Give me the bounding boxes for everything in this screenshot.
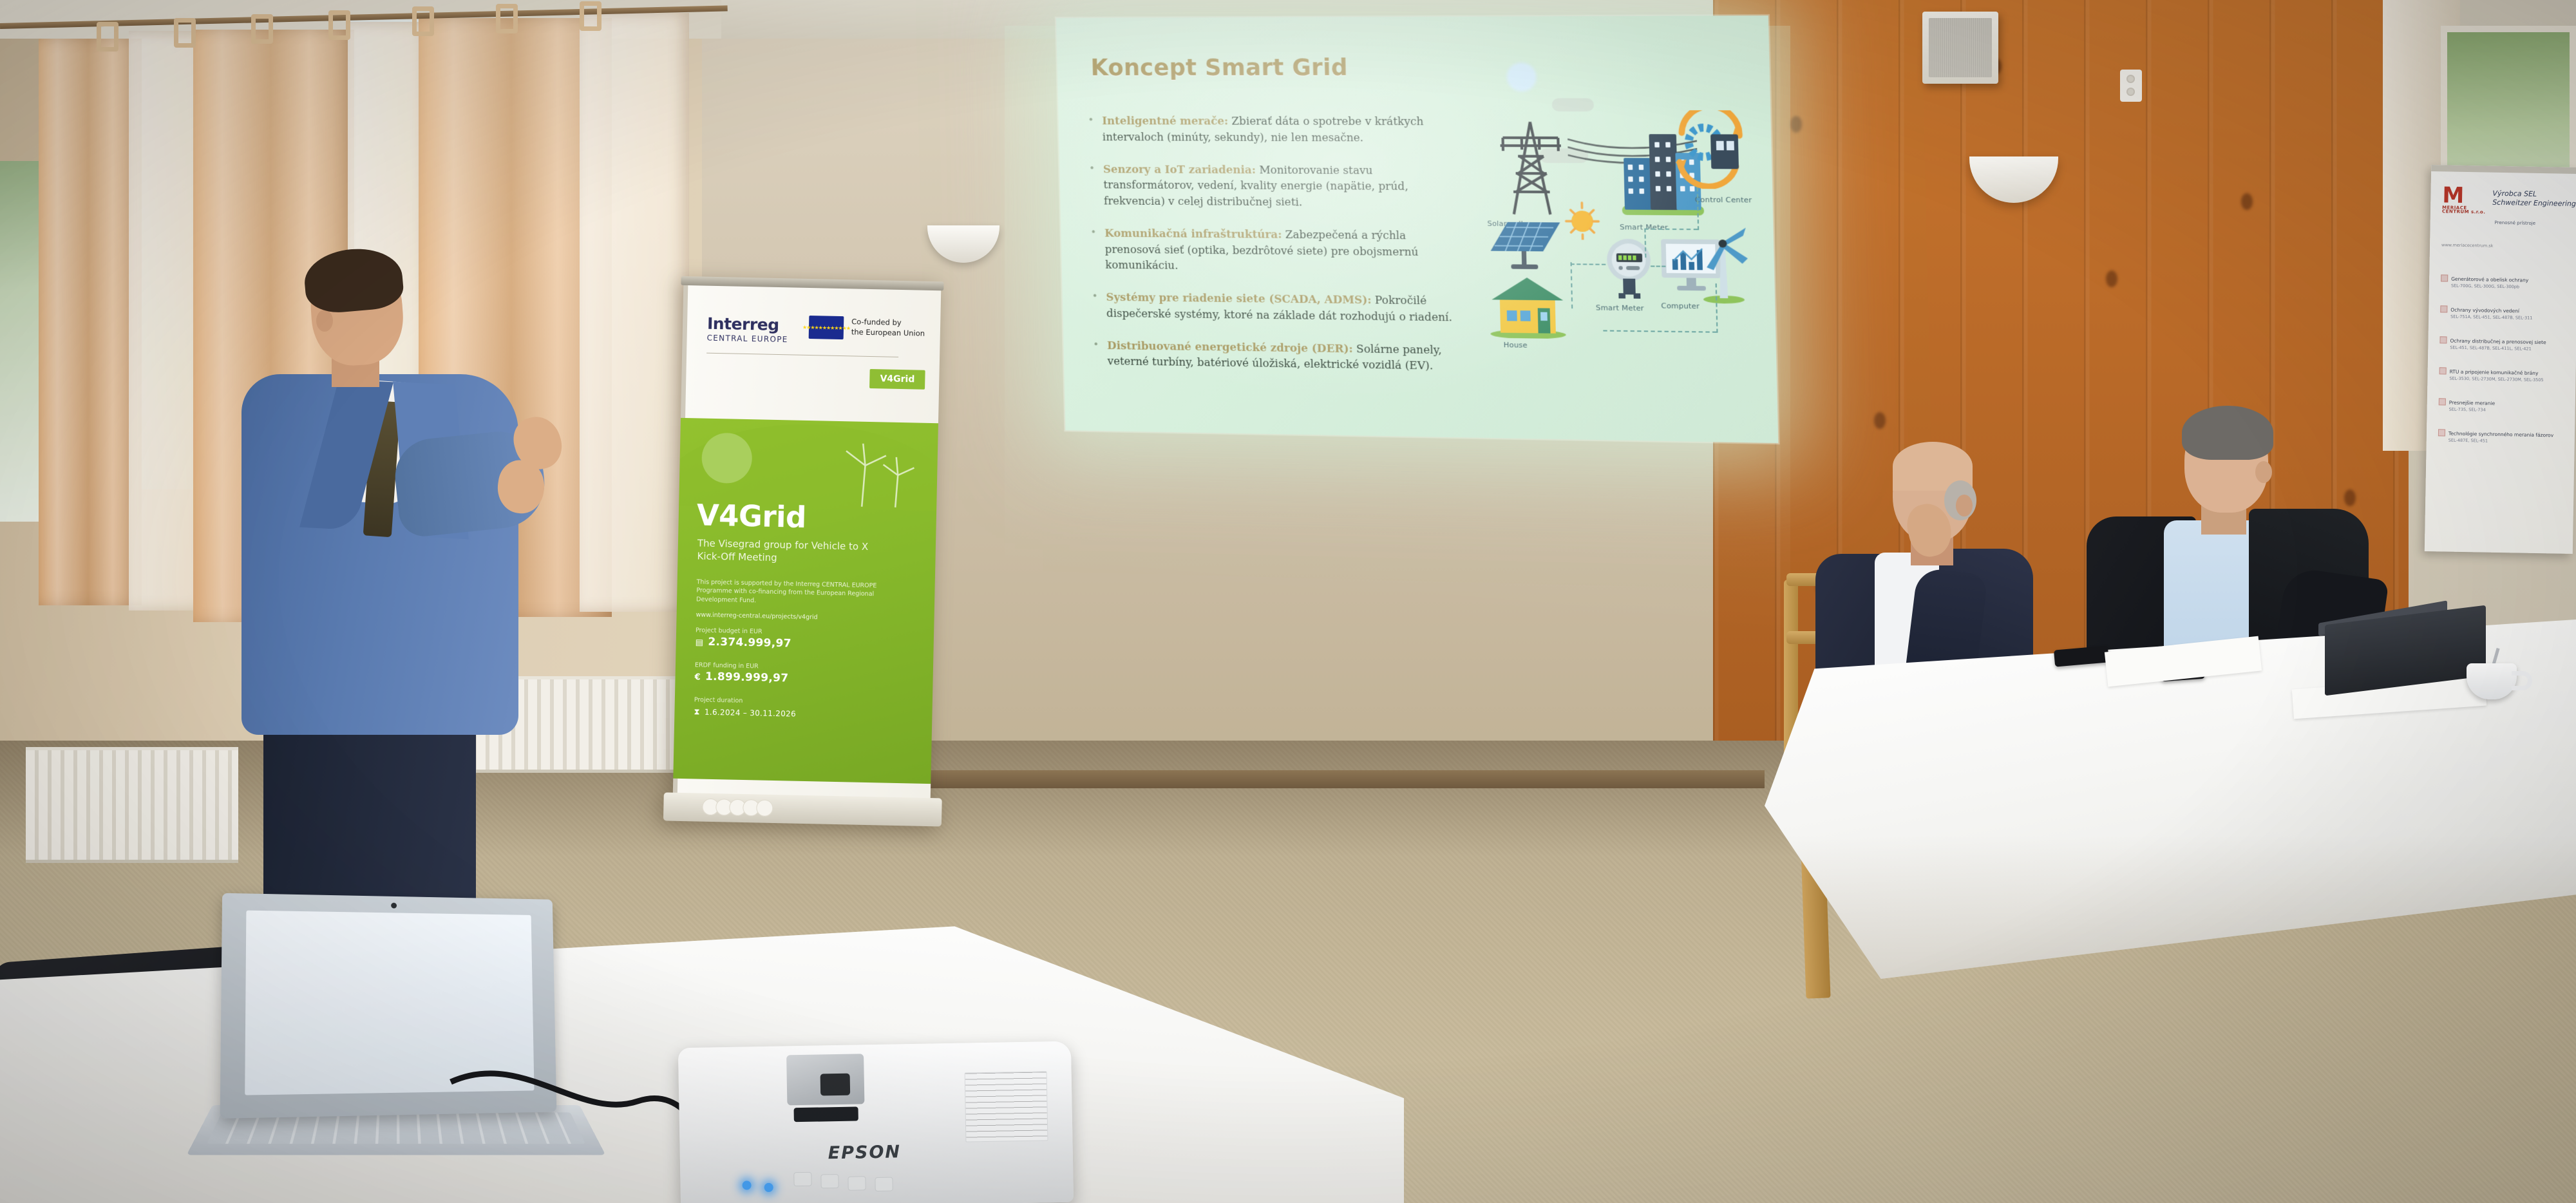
bullet-dot: • <box>1093 337 1099 370</box>
interreg-logo: Interreg CENTRAL EUROPE <box>706 314 788 345</box>
banner-fact-budget: Project budget in EUR ▤2.374.999,97 <box>696 627 792 650</box>
poster-row-label: Presnejšie meranie <box>2449 400 2495 406</box>
fact-value: 1.899.999,97 <box>705 670 789 685</box>
projector-brand: EPSON <box>828 1142 901 1163</box>
poster-row-label: Ochrany vývodových vedení <box>2450 307 2519 314</box>
rollup-banner-v4grid: Interreg CENTRAL EUROPE ★★★★★★★★★★★★ Co-… <box>673 283 942 803</box>
poster-row-label: Generátorové a obelisk ochrany <box>2451 276 2528 283</box>
pale-sun-icon <box>1506 62 1537 91</box>
projector-spec-label <box>965 1071 1048 1142</box>
banner-title: V4Grid <box>696 498 806 535</box>
poster-url: www.meriacecentrum.sk <box>2441 242 2494 248</box>
bullet-dot: • <box>1088 113 1094 146</box>
poster-logo-m: MMERIACE CENTRUM s.r.o. <box>2442 185 2486 214</box>
sheer-curtain-panel <box>580 13 689 612</box>
poster-row-codes: SEL-451, SEL-487B, SEL-411L, SEL-421 <box>2450 345 2568 353</box>
projector-vent <box>794 1106 858 1122</box>
house-icon <box>1487 272 1568 339</box>
eu-flag-icon: ★★★★★★★★★★★★ <box>809 316 844 339</box>
webcam-icon <box>391 903 397 909</box>
slide-bullet: • Distribuované energetické zdroje (DER)… <box>1093 337 1461 375</box>
poster-row: Presnejšie meranie SEL-735, SEL-734 <box>2439 398 2568 415</box>
projector-button[interactable] <box>848 1176 866 1190</box>
poster-row-codes: SEL-700G, SEL-300G, SEL-300pb <box>2451 283 2570 291</box>
bullet-dot: • <box>1092 290 1098 322</box>
banner-base-dots <box>702 799 770 817</box>
curtain-tab <box>412 6 434 36</box>
poster-row: Ochrany vývodových vedení SEL-751A, SEL-… <box>2440 305 2569 322</box>
diagram-label-computer: Computer <box>1661 301 1700 310</box>
smart-grid-diagram: Solar poller <box>1472 57 1750 370</box>
slide-bullet: • Inteligentné merače: Zbierať dáta o sp… <box>1088 113 1456 146</box>
poster-row-icon <box>2438 429 2445 436</box>
presenter-hair <box>302 245 405 316</box>
diagram-label-house: House <box>1504 341 1528 350</box>
poster-row-icon <box>2440 305 2447 312</box>
curtain-tab <box>97 22 118 52</box>
slide-bullet: • Komunikačná infraštruktúra: Zabezpečen… <box>1090 225 1459 277</box>
poster-row: RTU a pripojenie komunikačné brány SEL-3… <box>2439 367 2568 384</box>
banner-url: www.interreg-central.eu/projects/v4grid <box>696 611 818 621</box>
poster-row-codes: SEL-751A, SEL-451, SEL-487B, SEL-311 <box>2450 314 2569 322</box>
bullet-lead: Distribuované energetické zdroje (DER): <box>1107 339 1353 354</box>
slide-bullet: • Senzory a IoT zariadenia: Monitorovani… <box>1089 162 1457 212</box>
presenter-person <box>241 254 576 873</box>
projector-lens <box>786 1054 864 1105</box>
poster-row-label: Ochrany distribučnej a prenosovej siete <box>2450 338 2546 346</box>
solar-panel-icon <box>1484 216 1567 276</box>
banner-funding-note: This project is supported by the Interre… <box>696 578 909 608</box>
poster-row-label: RTU a pripojenie komunikačné brány <box>2450 369 2539 376</box>
fact-caption: ERDF funding in EUR <box>695 661 789 670</box>
attendee2-hair <box>2182 406 2273 460</box>
power-socket[interactable] <box>2120 70 2142 102</box>
bullet-lead: Komunikačná infraštruktúra: <box>1104 227 1282 240</box>
interreg-programme: CENTRAL EUROPE <box>706 334 788 345</box>
curtain-tab <box>580 1 601 31</box>
poster-row-codes: SEL-487E, SEL-451 <box>2448 437 2567 446</box>
banner-green-panel: V4Grid The Visegrad group for Vehicle to… <box>673 418 938 784</box>
wall-speaker <box>1922 12 1998 84</box>
poster-subtitle: Prenosné prístroje <box>2495 220 2575 227</box>
bullet-lead: Systémy pre riadenie siete (SCADA, ADMS)… <box>1106 291 1371 307</box>
control-center-icon <box>1667 110 1750 189</box>
eu-funding-text: Co-funded by the European Union <box>851 317 925 338</box>
poster-row-icon <box>2439 367 2447 374</box>
smart-meter-icon <box>1604 234 1654 299</box>
power-cable <box>444 1043 715 1203</box>
projection-screen: Koncept Smart Grid • Inteligentné merače… <box>1056 15 1778 443</box>
cup-handle <box>2512 671 2532 690</box>
sun-icon <box>1561 198 1604 240</box>
budget-glyph-icon: ▤ <box>696 638 704 647</box>
banner-wind-turbines-icon <box>836 438 921 511</box>
fact-caption: Project duration <box>694 696 797 705</box>
interreg-name: Interreg <box>707 314 789 335</box>
diagram-label-meter: Smart Meter <box>1596 303 1644 312</box>
v4grid-tag: V4Grid <box>869 369 925 390</box>
poster-row: Ochrany distribučnej a prenosovej siete … <box>2439 336 2568 353</box>
presenter-ear <box>316 310 333 332</box>
diagram-label-control-center: Control Center <box>1695 195 1752 204</box>
bullet-lead: Inteligentné merače: <box>1102 115 1228 127</box>
banner-fact-erdf: ERDF funding in EUR €1.899.999,97 <box>694 661 788 685</box>
poster-row: Generátorové a obelisk ochrany SEL-700G,… <box>2441 274 2570 291</box>
conference-room-scene: Koncept Smart Grid • Inteligentné merače… <box>0 0 2576 1203</box>
wind-turbine-icon <box>1695 223 1752 304</box>
poster-row-codes: SEL-735, SEL-734 <box>2449 406 2568 415</box>
technical-poster: MMERIACE CENTRUM s.r.o. Výrobca SEL Schw… <box>2425 165 2576 554</box>
bullet-dot: • <box>1090 225 1097 273</box>
banner-subtitle: The Visegrad group for Vehicle to X Kick… <box>697 536 910 567</box>
bullet-dot: • <box>1089 162 1096 209</box>
slide-title: Koncept Smart Grid <box>1090 55 1348 81</box>
poster-logo-sub: MERIACE CENTRUM s.r.o. <box>2442 205 2486 214</box>
attendee1-ear <box>1956 495 1973 516</box>
slide-bullet-list: • Inteligentné merače: Zbierať dáta o sp… <box>1088 113 1461 392</box>
projector-button[interactable] <box>820 1174 838 1188</box>
bullet-lead: Senzory a IoT zariadenia: <box>1103 163 1256 176</box>
eu-stars: ★★★★★★★★★★★★ <box>809 316 844 339</box>
attendee2-ear <box>2255 461 2272 483</box>
hourglass-glyph-icon: ⧗ <box>694 707 700 717</box>
poster-row-label: Technológie synchronného merania fázorov <box>2448 431 2553 439</box>
presenter-legs <box>263 705 476 918</box>
poster-row-icon <box>2441 274 2448 281</box>
curtain-tab <box>496 4 518 33</box>
curtain-tab <box>251 14 273 44</box>
poster-row-codes: SEL-3530, SEL-2730M, SEL-2730M, SEL-3505 <box>2449 375 2568 384</box>
fact-value: 1.6.2024 – 30.11.2026 <box>705 708 796 719</box>
fact-value: 2.374.999,97 <box>708 636 791 650</box>
cloud-icon <box>1552 98 1595 111</box>
projector-button[interactable] <box>875 1177 893 1191</box>
slide-bullet: • Systémy pre riadenie siete (SCADA, ADM… <box>1092 290 1460 327</box>
poster-title: Výrobca SEL Schweitzer Engineering <box>2492 189 2576 209</box>
curtain-panel <box>39 39 142 605</box>
curtain-tab <box>328 10 350 40</box>
banner-fact-duration: Project duration ⧗1.6.2024 – 30.11.2026 <box>694 696 796 719</box>
epson-projector[interactable]: EPSON <box>678 1041 1074 1203</box>
fact-caption: Project budget in EUR <box>696 627 791 636</box>
poster-row-icon <box>2439 398 2446 405</box>
poster-row: Technológie synchronného merania fázorov… <box>2438 429 2567 446</box>
projector-button[interactable] <box>793 1172 811 1186</box>
radiator <box>26 747 238 863</box>
poster-row-icon <box>2439 336 2447 343</box>
euro-glyph-icon: € <box>694 672 701 682</box>
curtain-tab <box>174 18 196 48</box>
